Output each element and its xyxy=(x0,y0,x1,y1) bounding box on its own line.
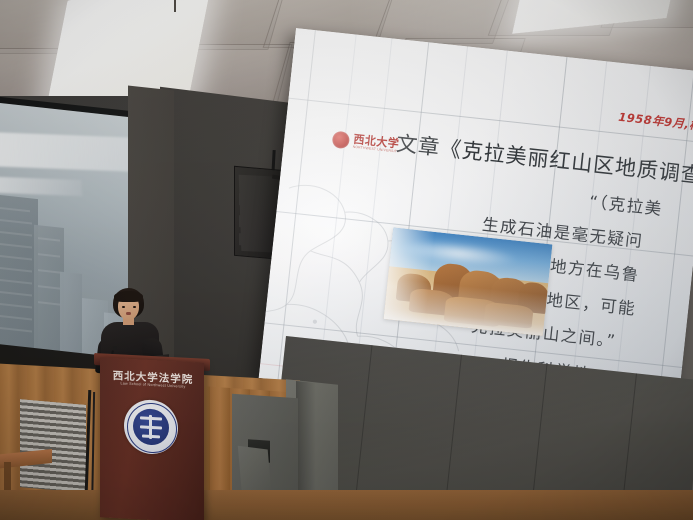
wall-vent-grille xyxy=(20,399,86,493)
presenter-eye xyxy=(122,306,125,308)
slide-photo-danxia-landscape xyxy=(384,227,553,335)
microphone-icon xyxy=(113,346,117,350)
university-emblem: 1902 xyxy=(124,399,178,456)
lecture-hall-photo: 西北大学 NORTHWEST UNIVERSITY 文章《克拉美丽红山区地质调查… xyxy=(0,0,693,520)
presenter-mouth xyxy=(126,312,131,315)
university-seal-icon xyxy=(332,131,351,150)
podium: 西北大学法学院 Law School of Northwest Universi… xyxy=(100,357,204,520)
ceiling-hanger-wire xyxy=(174,0,176,12)
presenter-hair-fringe xyxy=(114,291,143,302)
presenter-eye xyxy=(133,306,136,308)
